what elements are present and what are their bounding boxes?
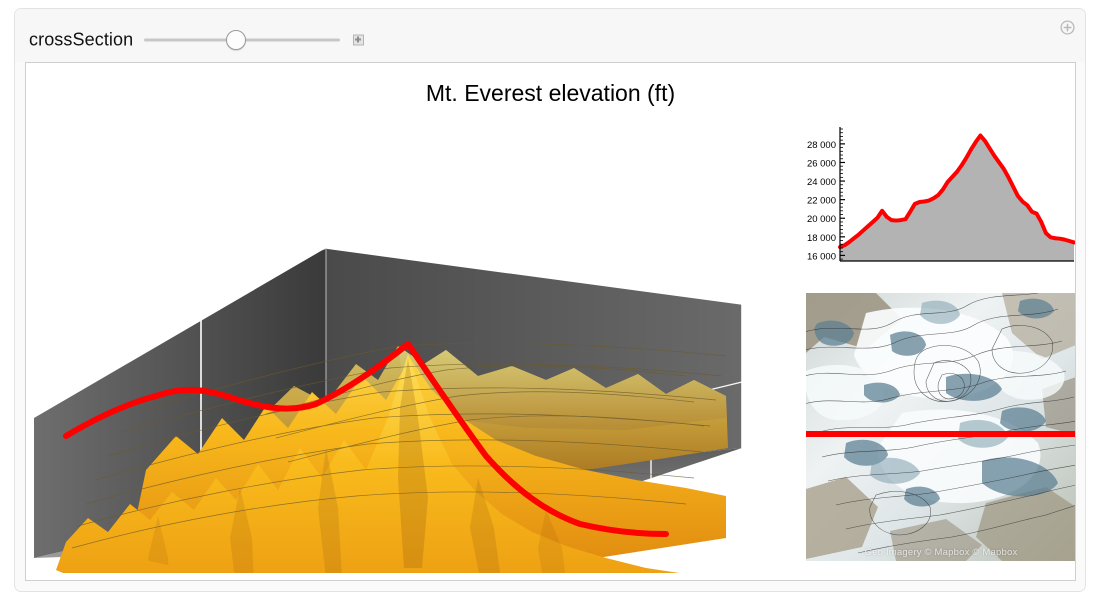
slider-expand-button[interactable] [353,35,364,46]
y-tick-label: 26 000 [807,158,836,169]
profile-area [840,136,1074,261]
right-panel: 16 00018 00020 00022 00024 00026 00028 0… [796,121,1076,561]
slider-label: crossSection [29,30,133,51]
y-tick-label: 24 000 [807,177,836,188]
cross-section-slider[interactable] [144,30,340,50]
elevation-profile-chart: 16 00018 00020 00022 00024 00026 00028 0… [796,121,1076,276]
cross-section-line-map [806,431,1076,437]
terrain-3d-plot[interactable] [26,118,766,573]
control-bar: crossSection [15,9,1085,62]
page-title: Mt. Everest elevation (ft) [26,80,1075,107]
y-tick-label: 20 000 [807,214,836,225]
circled-plus-icon[interactable] [1060,20,1075,35]
map-imagery [806,293,1076,561]
y-tick-label: 16 000 [807,251,836,262]
notebook-window: crossSection Mt. Everest elevation (ft) [14,8,1086,592]
map-panel[interactable]: Geo Imagery © Mapbox © Mapbox [806,293,1076,561]
y-tick-label: 18 000 [807,233,836,244]
output-canvas: Mt. Everest elevation (ft) [25,62,1076,581]
y-tick-label: 22 000 [807,196,836,207]
y-tick-label: 28 000 [807,140,836,151]
slider-thumb[interactable] [226,30,246,50]
